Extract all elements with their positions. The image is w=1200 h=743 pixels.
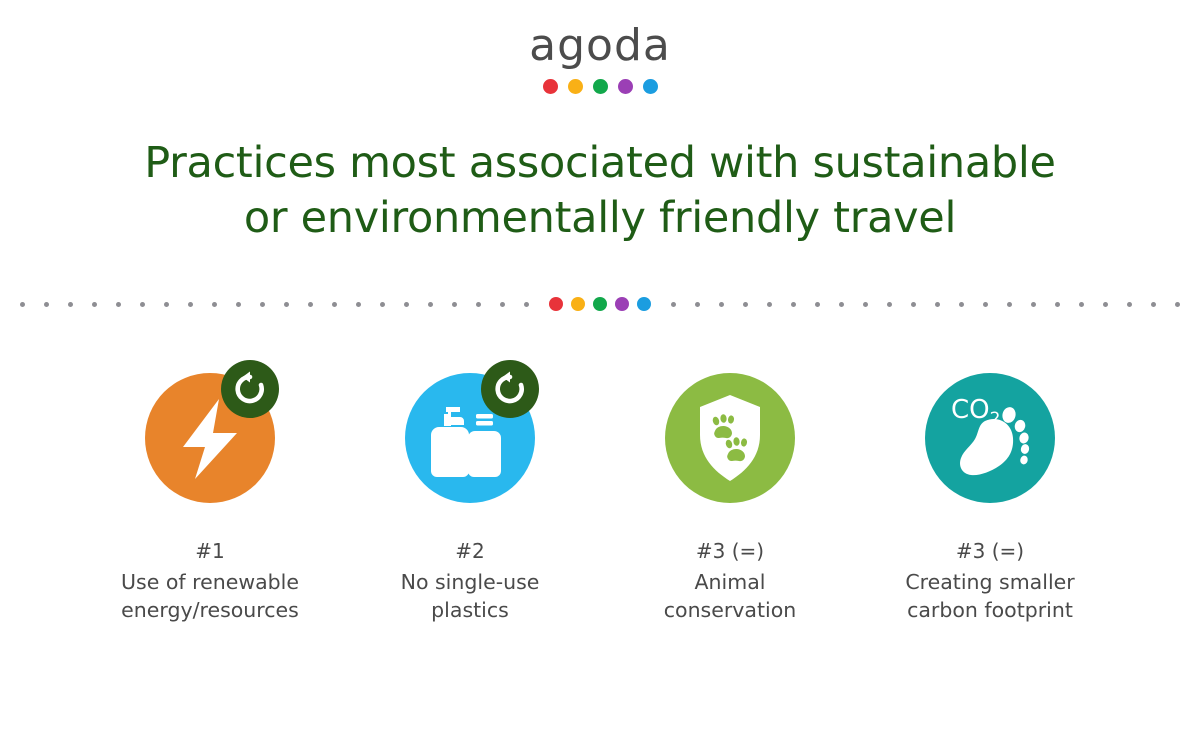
practice-icon-4: CO2: [915, 360, 1065, 510]
divider-grey-dot: [356, 302, 361, 307]
divider-grey-dot: [983, 302, 988, 307]
brand-dot-yellow: [568, 79, 583, 94]
practice-card-4: CO2 #3 (=) Creating smaller carbon footp…: [860, 360, 1120, 625]
divider-grey-dot: [404, 302, 409, 307]
divider-grey-dot: [68, 302, 73, 307]
divider-grey-dot: [1031, 302, 1036, 307]
divider-grey-dot: [935, 302, 940, 307]
divider-grey-dot: [767, 302, 772, 307]
practice-caption-1: Use of renewable energy/resources: [121, 568, 299, 625]
practice-icon-3: [655, 360, 805, 510]
divider-grey-dot: [1103, 302, 1108, 307]
divider-dot-yellow: [571, 297, 585, 311]
practice-card-1: #1 Use of renewable energy/resources: [80, 360, 340, 625]
divider-grey-dot: [1007, 302, 1012, 307]
divider-dot-purple: [615, 297, 629, 311]
brand-dot-purple: [618, 79, 633, 94]
agoda-logo-wordmark: agoda: [529, 24, 671, 68]
practice-rank-1: #1: [195, 538, 224, 566]
divider-grey-dot: [911, 302, 916, 307]
practice-card-3: #3 (=) Animal conservation: [600, 360, 860, 625]
page-title: Practices most associated with sustainab…: [100, 136, 1100, 246]
divider-grey-dot: [44, 302, 49, 307]
practice-card-list: #1 Use of renewable energy/resources: [0, 360, 1200, 625]
page-title-line-2: or environmentally friendly travel: [100, 191, 1100, 246]
practice-caption-3: Animal conservation: [664, 568, 797, 625]
recycle-badge-icon: [221, 360, 279, 418]
brand-header: agoda: [0, 0, 1200, 94]
divider-grey-dot: [380, 302, 385, 307]
practice-icon-2: [395, 360, 545, 510]
divider-grey-dot: [308, 302, 313, 307]
divider-grey-dot: [260, 302, 265, 307]
divider-grey-dot: [1055, 302, 1060, 307]
practice-icon-1: [135, 360, 285, 510]
brand-logo-dots: [543, 79, 658, 94]
co2-footprint-icon: CO2: [925, 373, 1055, 503]
divider-grey-dot: [1151, 302, 1156, 307]
divider-grey-dot: [188, 302, 193, 307]
practice-card-2: #2 No single-use plastics: [340, 360, 600, 625]
divider-grey-dot: [1175, 302, 1180, 307]
practice-caption-4: Creating smaller carbon footprint: [905, 568, 1074, 625]
divider-grey-dot: [500, 302, 505, 307]
shield-paw-prints-icon: [665, 373, 795, 503]
divider-grey-dot: [1127, 302, 1132, 307]
divider-grey-dot: [887, 302, 892, 307]
divider-right-dots: [671, 302, 1180, 307]
divider-grey-dot: [140, 302, 145, 307]
divider-left-dots: [20, 302, 529, 307]
practice-caption-2: No single-use plastics: [401, 568, 540, 625]
divider-grey-dot: [959, 302, 964, 307]
page-title-line-1: Practices most associated with sustainab…: [100, 136, 1100, 191]
divider-dot-green: [593, 297, 607, 311]
divider-grey-dot: [332, 302, 337, 307]
divider-grey-dot: [791, 302, 796, 307]
divider-grey-dot: [815, 302, 820, 307]
dotted-divider: [0, 294, 1200, 314]
divider-grey-dot: [719, 302, 724, 307]
divider-grey-dot: [116, 302, 121, 307]
divider-grey-dot: [863, 302, 868, 307]
divider-center-dots: [549, 297, 651, 311]
divider-grey-dot: [524, 302, 529, 307]
divider-grey-dot: [1079, 302, 1084, 307]
brand-dot-green: [593, 79, 608, 94]
divider-grey-dot: [452, 302, 457, 307]
divider-grey-dot: [92, 302, 97, 307]
divider-dot-red: [549, 297, 563, 311]
divider-grey-dot: [236, 302, 241, 307]
divider-grey-dot: [284, 302, 289, 307]
practice-rank-3: #3 (=): [696, 538, 764, 566]
brand-dot-red: [543, 79, 558, 94]
divider-grey-dot: [476, 302, 481, 307]
divider-grey-dot: [839, 302, 844, 307]
divider-grey-dot: [428, 302, 433, 307]
divider-grey-dot: [671, 302, 676, 307]
divider-dot-blue: [637, 297, 651, 311]
divider-grey-dot: [743, 302, 748, 307]
divider-grey-dot: [20, 302, 25, 307]
practice-rank-2: #2: [455, 538, 484, 566]
divider-grey-dot: [695, 302, 700, 307]
practice-rank-4: #3 (=): [956, 538, 1024, 566]
divider-grey-dot: [212, 302, 217, 307]
divider-grey-dot: [164, 302, 169, 307]
recycle-badge-icon: [481, 360, 539, 418]
brand-dot-blue: [643, 79, 658, 94]
